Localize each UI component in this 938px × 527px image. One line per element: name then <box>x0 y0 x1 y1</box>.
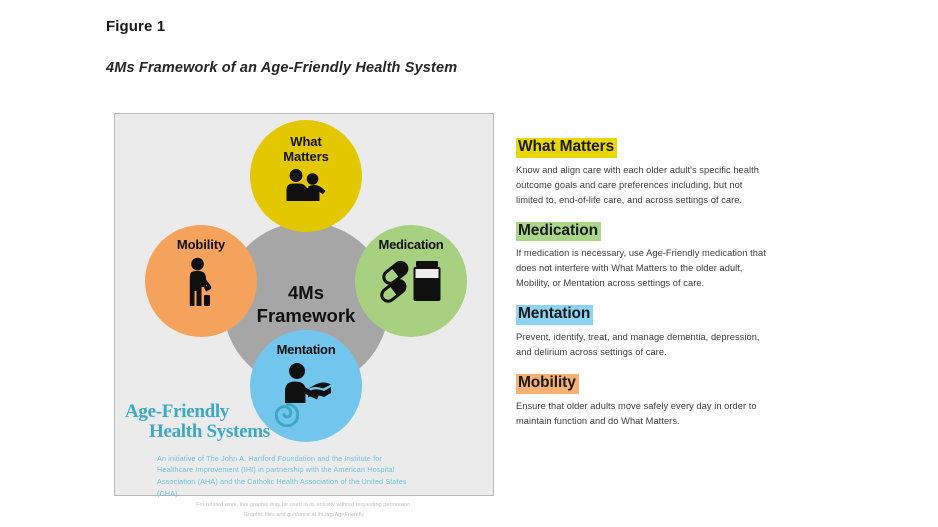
lobe-what-matters-label: What Matters <box>283 133 329 164</box>
two-people-embracing-icon <box>282 168 330 202</box>
lobe-mentation-label: Mentation <box>277 343 336 358</box>
logo-line-2: Health Systems <box>125 422 270 442</box>
walking-person-icon <box>184 257 218 307</box>
figure-label: Figure 1 <box>106 18 165 35</box>
graphic-usage-footer: For related work, this graphic may be us… <box>114 501 494 521</box>
description-heading-mentation: Mentation <box>516 305 593 325</box>
lobe-mobility-label: Mobility <box>177 238 225 253</box>
descriptions-column: What Matters Know and align care with ea… <box>516 138 766 443</box>
logo-line-1: Age-Friendly <box>125 402 270 422</box>
diagram-panel: 4Ms Framework What Matters Mobility <box>114 113 494 496</box>
description-block-mobility: Mobility Ensure that older adults move s… <box>516 374 766 429</box>
pills-and-bottle-icon <box>380 257 442 303</box>
age-friendly-logo-block: Age-Friendly Health Systems An initiativ… <box>125 402 395 499</box>
description-body-mobility: Ensure that older adults move safely eve… <box>516 399 766 429</box>
4ms-venn-diagram: 4Ms Framework What Matters Mobility <box>115 114 495 497</box>
lobe-mobility[interactable]: Mobility <box>145 225 257 337</box>
logo-wordmark: Age-Friendly Health Systems <box>125 402 395 443</box>
description-body-what-matters: Know and align care with each older adul… <box>516 163 766 208</box>
lobe-medication[interactable]: Medication <box>355 225 467 337</box>
description-block-mentation: Mentation Prevent, identify, treat, and … <box>516 305 766 360</box>
figure-title: 4Ms Framework of an Age-Friendly Health … <box>106 60 457 76</box>
center-hub-line-2: Framework <box>257 305 356 328</box>
lobe-what-matters-label-line-1: What <box>290 134 321 149</box>
lobe-what-matters-label-line-2: Matters <box>283 149 329 164</box>
logo-attribution-text: An initiative of The John A. Hartford Fo… <box>157 453 407 500</box>
logo-text: Age-Friendly Health Systems <box>125 402 270 443</box>
description-heading-what-matters: What Matters <box>516 138 617 158</box>
spiral-swirl-icon <box>275 403 299 427</box>
description-heading-medication: Medication <box>516 222 601 242</box>
description-block-medication: Medication If medication is necessary, u… <box>516 222 766 292</box>
description-block-what-matters: What Matters Know and align care with ea… <box>516 138 766 208</box>
lobe-medication-label: Medication <box>379 238 444 253</box>
graphic-usage-footer-line-1: For related work, this graphic may be us… <box>114 501 494 511</box>
description-heading-mobility: Mobility <box>516 374 579 394</box>
center-hub-line-1: 4Ms <box>288 282 324 305</box>
graphic-usage-footer-line-2: Graphic files and guidance at ihi.org/Ag… <box>114 511 494 521</box>
lobe-what-matters[interactable]: What Matters <box>250 120 362 232</box>
description-body-mentation: Prevent, identify, treat, and manage dem… <box>516 330 766 360</box>
description-body-medication: If medication is necessary, use Age-Frie… <box>516 246 766 291</box>
person-reading-book-icon <box>279 362 333 404</box>
